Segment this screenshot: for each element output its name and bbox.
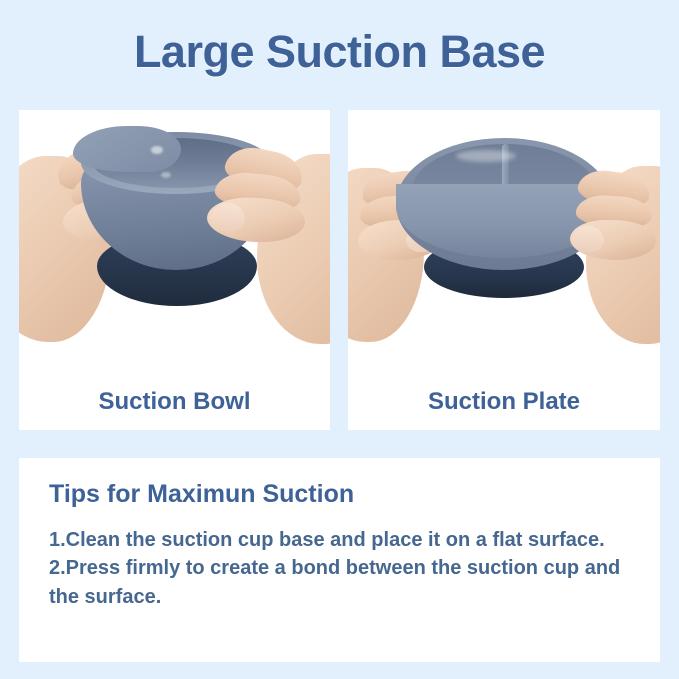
bowl-pour-lip (73, 126, 181, 172)
tip-item: 2.Press firmly to create a bond between … (49, 554, 637, 611)
plate-photo (348, 110, 660, 378)
product-panel-suction-bowl: Suction Bowl (19, 110, 330, 430)
tips-heading: Tips for Maximun Suction (49, 480, 354, 509)
tip-item: 1.Clean the suction cup base and place i… (49, 526, 637, 554)
panel-caption-plate: Suction Plate (348, 388, 660, 416)
bowl-photo (19, 110, 330, 378)
tips-card: Tips for Maximun Suction 1.Clean the suc… (19, 458, 660, 662)
page-title: Large Suction Base (0, 26, 679, 78)
tips-list: 1.Clean the suction cup base and place i… (49, 526, 637, 611)
infographic-page: Large Suction Base (0, 0, 679, 679)
product-panel-suction-plate: Suction Plate (348, 110, 660, 430)
panel-caption-bowl: Suction Bowl (19, 388, 330, 416)
